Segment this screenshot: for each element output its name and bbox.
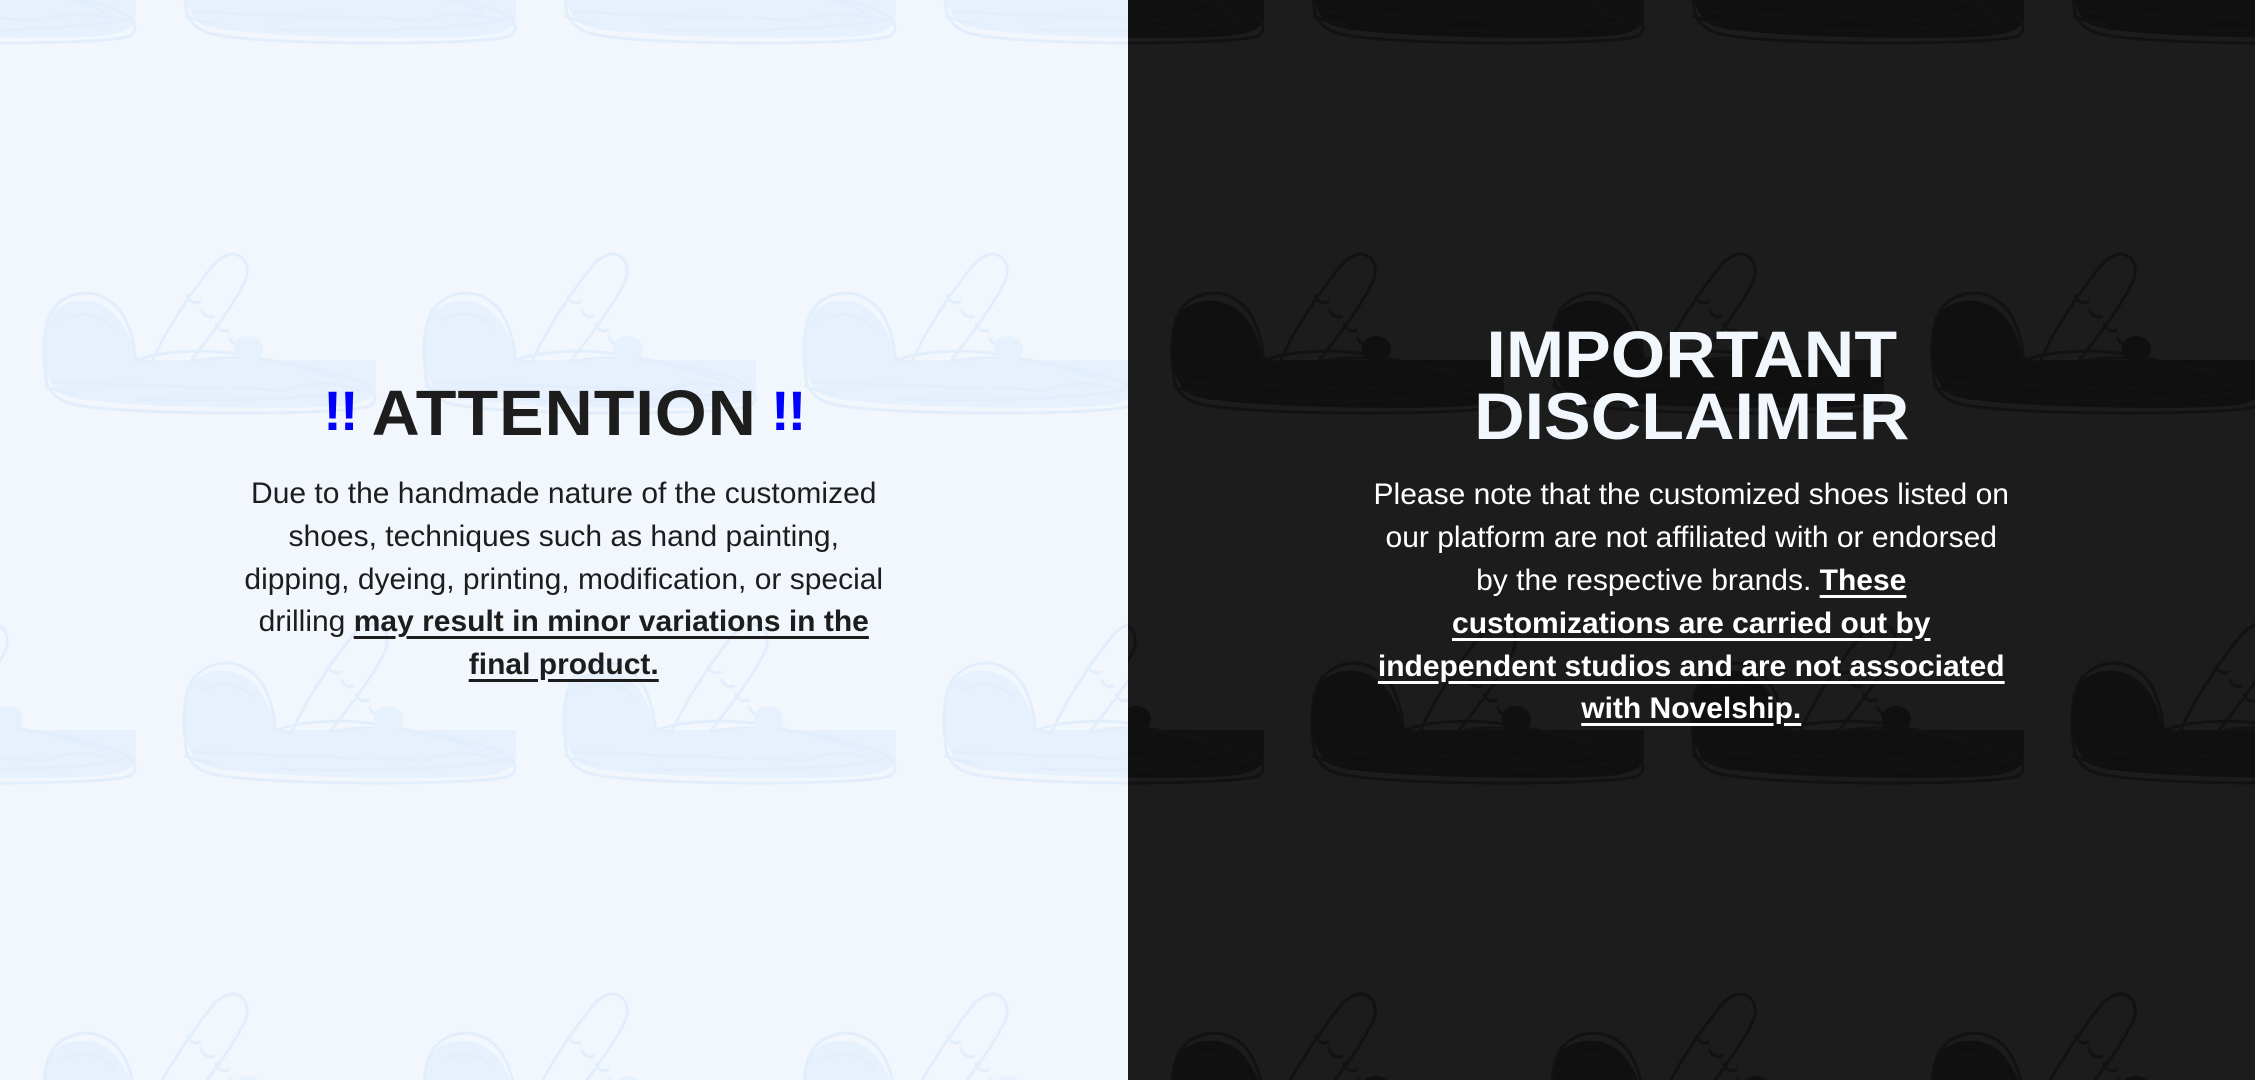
disclaimer-body-normal: Please note that the customized shoes li… xyxy=(1374,478,2009,597)
disclaimer-content: IMPORTANT DISCLAIMER Please note that th… xyxy=(1128,323,2255,732)
dual-panel-notice: !! ATTENTION !! Due to the handmade natu… xyxy=(0,0,2255,1080)
attention-body: Due to the handmade nature of the custom… xyxy=(244,473,884,687)
attention-panel: !! ATTENTION !! Due to the handmade natu… xyxy=(0,0,1128,1080)
disclaimer-heading: IMPORTANT DISCLAIMER xyxy=(1136,323,2246,448)
attention-heading: !! ATTENTION !! xyxy=(40,381,1088,445)
double-exclamation-mark-icon-right: !! xyxy=(771,383,804,439)
attention-content: !! ATTENTION !! Due to the handmade natu… xyxy=(0,381,1128,687)
disclaimer-body: Please note that the customized shoes li… xyxy=(1371,474,2011,731)
disclaimer-heading-line-2: DISCLAIMER xyxy=(1136,385,2246,448)
attention-heading-text: ATTENTION xyxy=(371,381,756,445)
double-exclamation-mark-icon-left: !! xyxy=(323,383,356,439)
disclaimer-heading-line-1: IMPORTANT xyxy=(1136,323,2246,386)
attention-body-emphasis: may result in minor variations in the fi… xyxy=(354,605,869,681)
disclaimer-panel: IMPORTANT DISCLAIMER Please note that th… xyxy=(1128,0,2255,1080)
